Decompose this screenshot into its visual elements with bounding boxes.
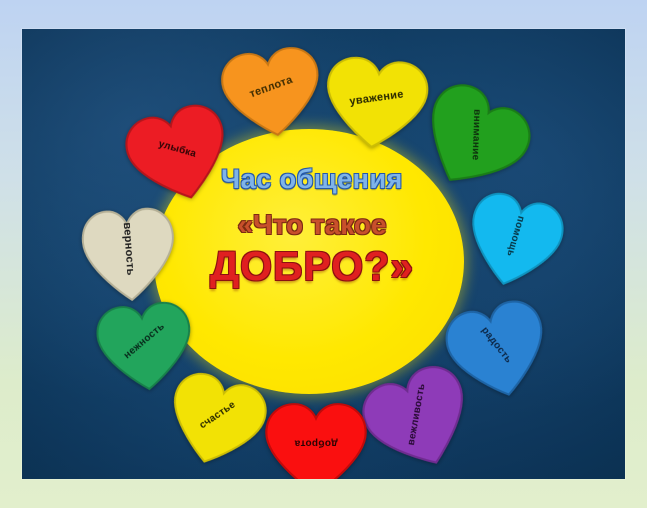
slide-title-line2: «Что такое: [142, 209, 482, 241]
heart-shape: нежность: [90, 296, 199, 398]
slide-frame: теплотауважениевниманиепомощьрадостьвежл…: [0, 0, 647, 508]
heart-0: теплота: [214, 40, 330, 146]
title-block: Час общения «Что такое ДОБРО?»: [142, 164, 482, 290]
slide-title-line3: ДОБРО?»: [142, 243, 482, 290]
heart-shape: теплота: [214, 40, 330, 146]
heart-shape: доброта: [262, 400, 370, 479]
slide-title-line1: Час общения: [142, 164, 482, 195]
heart-6: доброта: [262, 400, 370, 479]
heart-8: нежность: [90, 296, 199, 398]
slide-canvas: теплотауважениевниманиепомощьрадостьвежл…: [22, 29, 625, 479]
